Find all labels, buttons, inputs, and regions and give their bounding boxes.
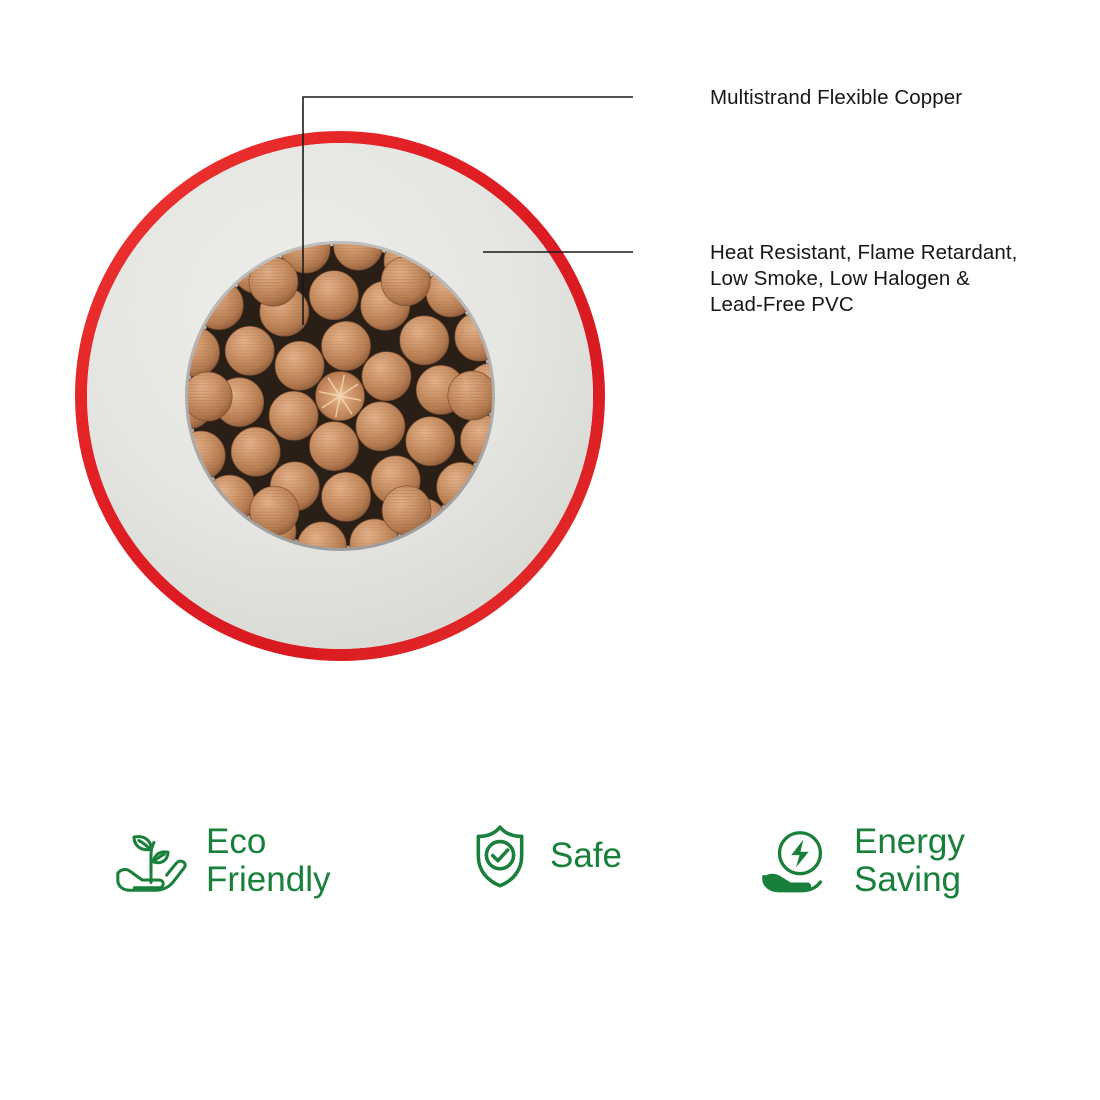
copper-strand-texture bbox=[231, 427, 280, 476]
hand-lightning-icon bbox=[760, 822, 838, 900]
feature-label-eco: Eco Friendly bbox=[206, 823, 330, 899]
infographic-page: Multistrand Flexible Copper Heat Resista… bbox=[0, 0, 1100, 1100]
cable-diagram-svg bbox=[0, 0, 680, 720]
cable-cross-section bbox=[0, 0, 680, 720]
copper-strand-texture bbox=[225, 326, 274, 375]
copper-strand-texture bbox=[310, 422, 359, 471]
copper-strand-texture bbox=[269, 391, 318, 440]
shield-check-icon bbox=[466, 822, 534, 890]
hand-plant-icon bbox=[112, 822, 190, 900]
feature-label-energy: Energy Saving bbox=[854, 823, 965, 899]
feature-energy-saving: Energy Saving bbox=[760, 822, 965, 900]
copper-strand-texture bbox=[406, 417, 455, 466]
copper-strand-texture bbox=[362, 352, 411, 401]
feature-safe: Safe bbox=[466, 822, 622, 890]
copper-strand-texture bbox=[400, 316, 449, 365]
copper-strand-texture bbox=[309, 271, 358, 320]
callout-label-copper: Multistrand Flexible Copper bbox=[710, 85, 962, 111]
copper-strand-texture bbox=[356, 402, 405, 451]
callout-label-pvc: Heat Resistant, Flame Retardant, Low Smo… bbox=[710, 240, 1017, 318]
feature-label-safe: Safe bbox=[550, 837, 622, 875]
copper-strand-texture bbox=[183, 372, 232, 421]
copper-strand-texture bbox=[448, 371, 497, 420]
feature-badges: Eco Friendly Safe bbox=[0, 800, 1100, 960]
copper-strand-texture bbox=[322, 321, 371, 370]
copper-strand-texture bbox=[275, 341, 324, 390]
feature-eco-friendly: Eco Friendly bbox=[112, 822, 330, 900]
copper-strand-texture bbox=[322, 472, 371, 521]
